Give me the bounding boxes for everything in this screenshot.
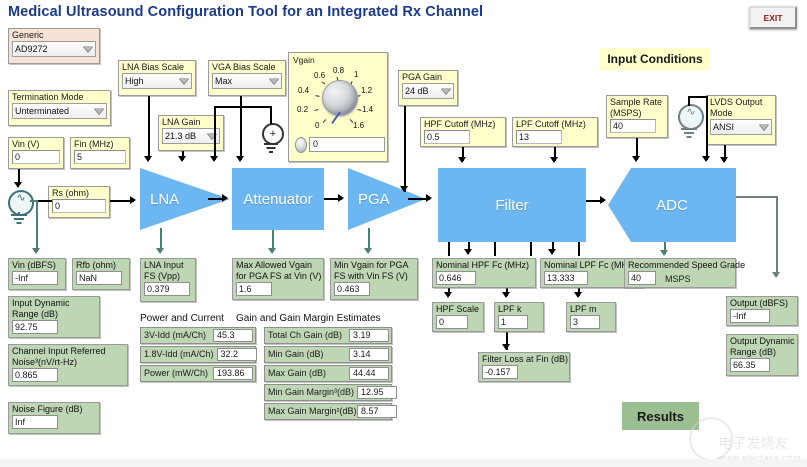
nominal-lpf-fc-value: 13.333: [544, 271, 588, 285]
vga-bias-scale-panel[interactable]: VGA Bias Scale Max: [208, 60, 286, 96]
rs-input[interactable]: 0: [52, 199, 106, 213]
arrow-down-icon: [502, 344, 510, 350]
row-value: 44.44: [349, 367, 389, 380]
hpf-scale-value: 0: [436, 315, 468, 329]
pga-gain-dropdown[interactable]: 24 dB: [402, 83, 454, 99]
rfb-ohm-value: NaN: [76, 271, 122, 285]
nominal-hpf-fc-value: 0.646: [436, 271, 476, 285]
chevron-down-icon: [94, 108, 104, 114]
gain-estimates-title: Gain and Gain Margin Estimates: [236, 313, 381, 324]
arrow-down-icon: [156, 248, 164, 254]
arrow-right-icon: [426, 194, 432, 202]
vin-panel[interactable]: Vin (V) 0: [8, 137, 64, 169]
exit-button[interactable]: EXIT: [749, 6, 797, 29]
power-and-current-title: Power and Current: [140, 313, 224, 324]
wire-clock-h: [688, 96, 708, 98]
source-gnd-wire: [18, 212, 20, 216]
filter-loss-label: Filter Loss at Fin (dB): [479, 353, 569, 364]
max-allowed-vgain-indicator: Max Allowed Vgain for PGA FS at Vin (V) …: [232, 258, 324, 300]
arrow-down-icon: [702, 156, 710, 162]
wire-pgagain-pga: [404, 106, 406, 192]
app-window: Medical Ultrasound Configuration Tool fo…: [0, 0, 807, 467]
table-row: 3V-Idd (mA/Ch) 45.3: [140, 327, 256, 344]
arrow-down-icon: [178, 156, 186, 162]
lna-input-fs-indicator: LNA Input FS (Vpp) 0.379: [140, 258, 196, 302]
noise-figure-indicator: Noise Figure (dB) Inf: [8, 402, 100, 434]
lpf-m-indicator: LPF m 3: [566, 302, 616, 332]
nominal-hpf-fc-label: Nominal HPF Fc (MHz): [433, 259, 535, 270]
arrow-down-icon: [550, 157, 558, 163]
lna-gain-value: 21.3 dB: [165, 131, 204, 141]
row-value: 8.57: [357, 405, 397, 418]
input-conditions-banner: Input Conditions: [600, 48, 710, 70]
power-and-current-table: 3V-Idd (mA/Ch) 45.3 1.8V-Idd (mA/Ch) 32.…: [140, 327, 256, 384]
lna-input-fs-label-line1: LNA Input: [141, 259, 195, 270]
hpf-cutoff-label: HPF Cutoff (MHz): [421, 118, 505, 129]
vgain-tick-0.6: 0.6: [314, 71, 325, 80]
nominal-hpf-fc-indicator: Nominal HPF Fc (MHz) 0.646: [432, 258, 536, 288]
arrow-right-icon: [130, 196, 136, 204]
arrow-down-icon: [268, 248, 276, 254]
output-dbfs-label: Output (dBFS): [727, 297, 797, 308]
termination-mode-label: Termination Mode: [9, 91, 110, 102]
lpf-k-value: 1: [498, 315, 528, 329]
arrow-down-icon: [458, 157, 466, 163]
device-value: AD9272: [15, 44, 80, 54]
arrow-down-icon: [464, 249, 472, 255]
vgain-tick-1: 1: [354, 70, 358, 79]
page-title: Medical Ultrasound Configuration Tool fo…: [8, 4, 483, 20]
block-filter: Filter: [438, 168, 586, 242]
lna-bias-scale-panel[interactable]: LNA Bias Scale High: [118, 60, 196, 96]
hpf-scale-indicator: HPF Scale 0: [432, 302, 484, 332]
table-row: Max Gain Margin²(dB) 8.57: [264, 403, 392, 420]
wire-vgainsrc-attenuator: [214, 106, 216, 160]
channel-input-referred-noise-indicator: Channel Input Referred Noise³(nV/rt-Hz) …: [8, 344, 128, 386]
vgain-source-icon: +: [262, 123, 284, 145]
termination-mode-value: Unterminated: [15, 106, 91, 116]
arrow-down-icon: [144, 156, 152, 162]
output-dynamic-range-value: 66.35: [730, 358, 770, 372]
rfb-ohm-label: Rfb (ohm): [73, 259, 129, 270]
max-allowed-vgain-label-line1: Max Allowed Vgain: [233, 259, 323, 270]
rfb-ohm-indicator: Rfb (ohm) NaN: [72, 258, 130, 290]
chevron-down-icon: [759, 124, 769, 130]
lvds-label-line2: Mode: [707, 107, 775, 118]
row-value: 3.19: [349, 329, 389, 342]
table-row: Min Gain (dB) 3.14: [264, 346, 392, 363]
vin-dbfs-indicator: Vin (dBFS) -Inf: [8, 258, 66, 290]
min-vgain-indicator: Min Vgain for PGA FS with Vin FS (V) 0.4…: [330, 258, 418, 300]
wire-vgainsrc-up: [270, 106, 272, 124]
sample-rate-input[interactable]: 40: [610, 119, 656, 133]
rs-label: Rs (ohm): [49, 187, 109, 198]
wire-vgainsrc-h: [214, 106, 272, 108]
ground-symbol-icon: [678, 128, 700, 138]
vgain-tickmark: [322, 81, 326, 84]
vga-bias-scale-dropdown[interactable]: Max: [212, 73, 282, 89]
noise-value: 0.865: [12, 368, 58, 382]
arrow-down-icon: [364, 248, 372, 254]
sine-wave-icon: ∿: [10, 191, 32, 204]
vgain-knob-panel[interactable]: Vgain 0.6 0.8 1 0.4 1.2 0.2 1.4 0 1.6 0: [288, 52, 388, 162]
output-dbfs-value: -Inf: [730, 309, 770, 323]
lvds-output-mode-value: ANSI: [713, 122, 756, 132]
row-value: 12.95: [357, 386, 397, 399]
arrow-down-icon: [14, 182, 22, 188]
vgain-dial[interactable]: [322, 80, 358, 116]
arrow-down-icon: [548, 249, 556, 255]
vin-input[interactable]: 0: [12, 150, 60, 164]
chevron-down-icon: [179, 78, 189, 84]
arrow-right-icon: [222, 194, 228, 202]
hpf-scale-label: HPF Scale: [433, 303, 483, 314]
table-row: Max Gain (dB) 44.44: [264, 365, 392, 382]
fin-label: Fin (MHz): [71, 138, 129, 149]
lna-bias-scale-dropdown[interactable]: High: [122, 73, 192, 89]
pga-gain-panel[interactable]: PGA Gain 24 dB: [398, 70, 458, 106]
arrow-down-icon: [720, 157, 728, 163]
pga-gain-label: PGA Gain: [399, 71, 457, 82]
noise-figure-label: Noise Figure (dB): [9, 403, 99, 414]
filter-loss-indicator: Filter Loss at Fin (dB) -0.157: [478, 352, 570, 382]
wire-filter-out-6: [578, 242, 580, 256]
vga-bias-scale-label: VGA Bias Scale: [209, 61, 285, 72]
lpf-cutoff-panel[interactable]: LPF Cutoff (MHz) 13: [512, 117, 598, 147]
sample-rate-label-line2: (MSPS): [607, 107, 667, 118]
block-attenuator: Attenuator: [232, 168, 324, 230]
clock-wave-icon: ∿: [680, 105, 702, 118]
row-label: 1.8V-Idd (mA/Ch): [141, 347, 217, 362]
sample-rate-label-line1: Sample Rate: [607, 96, 667, 107]
gain-estimates-table: Total Ch Gain (dB) 3.19 Min Gain (dB) 3.…: [264, 327, 392, 422]
row-label: Min Gain Margin³(dB): [265, 385, 357, 400]
row-value: 32.2: [217, 348, 257, 361]
recommended-speed-grade-label: Recommended Speed Grade: [625, 259, 735, 270]
table-row: Total Ch Gain (dB) 3.19: [264, 327, 392, 344]
row-label: Max Gain (dB): [265, 366, 349, 381]
noise-figure-value: Inf: [12, 415, 58, 429]
lvds-output-mode-panel[interactable]: LVDS Output Mode ANSI: [706, 95, 776, 145]
hpf-cutoff-input[interactable]: 0.5: [424, 130, 470, 144]
vgain-tickmark: [315, 95, 319, 97]
max-allowed-vgain-value: 1.6: [236, 282, 272, 296]
wire-vin-tap: [30, 200, 38, 202]
ground-symbol-icon: [262, 143, 280, 152]
fin-panel[interactable]: Fin (MHz) 5: [70, 137, 130, 169]
device-select-panel[interactable]: Generic AD9272: [8, 28, 100, 64]
vgain-tick-0: 0: [315, 121, 319, 130]
fin-input[interactable]: 5: [74, 150, 126, 164]
lpf-m-label: LPF m: [567, 303, 615, 314]
wire-filter-out-4: [530, 242, 532, 256]
chevron-down-icon: [83, 46, 93, 52]
lna-gain-dropdown[interactable]: 21.3 dB: [162, 128, 220, 144]
block-adc: ADC: [608, 168, 736, 242]
max-allowed-vgain-label-line2: for PGA FS at Vin (V): [233, 270, 323, 281]
termination-mode-dropdown[interactable]: Unterminated: [12, 103, 107, 119]
signal-source-icon: ∿: [8, 190, 34, 216]
arrow-down-icon: [574, 292, 582, 298]
lpf-k-label: LPF k: [495, 303, 543, 314]
vgain-mini-knob-icon[interactable]: [295, 137, 307, 153]
noise-label-line1: Channel Input Referred: [9, 345, 127, 356]
device-label: Generic: [9, 29, 99, 40]
row-label: Min Gain (dB): [265, 347, 349, 362]
input-dynamic-range-label-line2: Range (dB): [9, 308, 99, 319]
termination-mode-panel[interactable]: Termination Mode Unterminated: [8, 90, 111, 126]
vgain-tick-0.2: 0.2: [297, 105, 308, 114]
vgain-tick-0.4: 0.4: [298, 86, 309, 95]
row-label: Power (mW/Ch): [141, 366, 213, 381]
chevron-down-icon: [269, 78, 279, 84]
adc-clock-source-icon: ∿: [678, 104, 704, 130]
vgain-label: Vgain: [293, 55, 315, 65]
lpf-cutoff-input[interactable]: 13: [516, 130, 562, 144]
lna-bias-scale-label: LNA Bias Scale: [119, 61, 195, 72]
lpf-k-indicator: LPF k 1: [494, 302, 544, 332]
wire-filter-out-3: [494, 242, 496, 256]
arrow-down-icon: [400, 186, 408, 192]
results-button[interactable]: Results: [622, 402, 699, 430]
input-dynamic-range-label-line1: Input Dynamic: [9, 297, 99, 308]
row-value: 193.86: [213, 367, 253, 380]
vgain-tick-1.2: 1.2: [361, 86, 372, 95]
vga-bias-scale-value: Max: [215, 76, 266, 86]
lvds-label-line1: LVDS Output: [707, 96, 775, 107]
sample-rate-panel[interactable]: Sample Rate (MSPS) 40: [606, 95, 668, 138]
recommended-speed-grade-value: 40: [628, 271, 656, 285]
vin-label: Vin (V): [9, 138, 63, 149]
row-value: 3.14: [349, 348, 389, 361]
output-dynamic-range-indicator: Output Dynamic Range (dB) 66.35: [726, 334, 798, 376]
row-label: Max Gain Margin²(dB): [265, 404, 357, 419]
arrow-down-icon: [32, 248, 40, 254]
min-vgain-label-line1: Min Vgain for PGA: [331, 259, 417, 270]
vgain-tick-1.6: 1.6: [353, 121, 364, 130]
table-row: 1.8V-Idd (mA/Ch) 32.2: [140, 346, 256, 363]
device-dropdown[interactable]: AD9272: [12, 41, 96, 57]
lpf-m-value: 3: [570, 315, 600, 329]
wire-adc-down: [776, 196, 778, 276]
arrow-down-icon: [210, 156, 218, 162]
noise-label-line2: Noise³(nV/rt-Hz): [9, 356, 127, 367]
lna-bias-scale-value: High: [125, 76, 176, 86]
wire-filter-out-1: [448, 242, 450, 256]
lna-input-fs-value: 0.379: [144, 282, 190, 296]
output-dbfs-indicator: Output (dBFS) -Inf: [726, 296, 798, 326]
recommended-speed-grade-indicator: Recommended Speed Grade 40 MSPS: [624, 258, 736, 288]
lpf-cutoff-label: LPF Cutoff (MHz): [513, 118, 597, 129]
chevron-down-icon: [441, 88, 451, 94]
wire-adc-right: [736, 196, 778, 198]
vin-dbfs-value: -Inf: [12, 271, 58, 285]
vgain-needle: [331, 111, 341, 124]
lvds-output-mode-dropdown[interactable]: ANSI: [710, 119, 772, 135]
output-dynamic-range-label-line1: Output Dynamic: [727, 335, 797, 346]
arrow-right-icon: [600, 196, 606, 204]
arrow-down-icon: [236, 156, 244, 162]
arrow-down-icon: [632, 156, 640, 162]
vgain-value[interactable]: 0: [309, 137, 385, 152]
input-dynamic-range-indicator: Input Dynamic Range (dB) 92.75: [8, 296, 100, 338]
input-dynamic-range-value: 92.75: [12, 320, 58, 334]
min-vgain-value: 0.463: [334, 282, 370, 296]
min-vgain-label-line2: FS with Vin FS (V): [331, 270, 417, 281]
output-dynamic-range-label-line2: Range (dB): [727, 346, 797, 357]
pga-gain-value: 24 dB: [405, 86, 438, 96]
table-row: Min Gain Margin³(dB) 12.95: [264, 384, 392, 401]
arrow-down-icon: [502, 292, 510, 298]
row-label: Total Ch Gain (dB): [265, 328, 349, 343]
vin-dbfs-label: Vin (dBFS): [9, 259, 65, 270]
table-row: Power (mW/Ch) 193.86: [140, 365, 256, 382]
wire-clock-adc: [706, 96, 708, 160]
vgain-tick-1.4: 1.4: [362, 105, 373, 114]
row-value: 45.3: [213, 329, 253, 342]
wire-vin-dbfs: [36, 200, 38, 252]
arrow-down-icon: [772, 272, 780, 278]
recommended-speed-grade-unit: MSPS: [665, 274, 691, 284]
arrow-right-icon: [338, 194, 344, 202]
row-label: 3V-Idd (mA/Ch): [141, 328, 213, 343]
hpf-cutoff-panel[interactable]: HPF Cutoff (MHz) 0.5: [420, 117, 506, 147]
arrow-down-icon: [444, 292, 452, 298]
vgain-tickmark: [314, 109, 318, 111]
footer-bar: [0, 459, 807, 467]
vgain-tickmark: [357, 109, 361, 111]
watermark-cn: 电子发烧友: [718, 433, 801, 453]
wire-lnabias-lna: [148, 96, 150, 160]
vgain-tick-0.8: 0.8: [333, 66, 344, 75]
vgain-tickmark: [350, 119, 353, 123]
filter-loss-value: -0.157: [482, 365, 518, 379]
rs-panel[interactable]: Rs (ohm) 0: [48, 186, 110, 218]
vgain-tickmark: [323, 119, 326, 123]
lna-input-fs-label-line2: FS (Vpp): [141, 270, 195, 281]
